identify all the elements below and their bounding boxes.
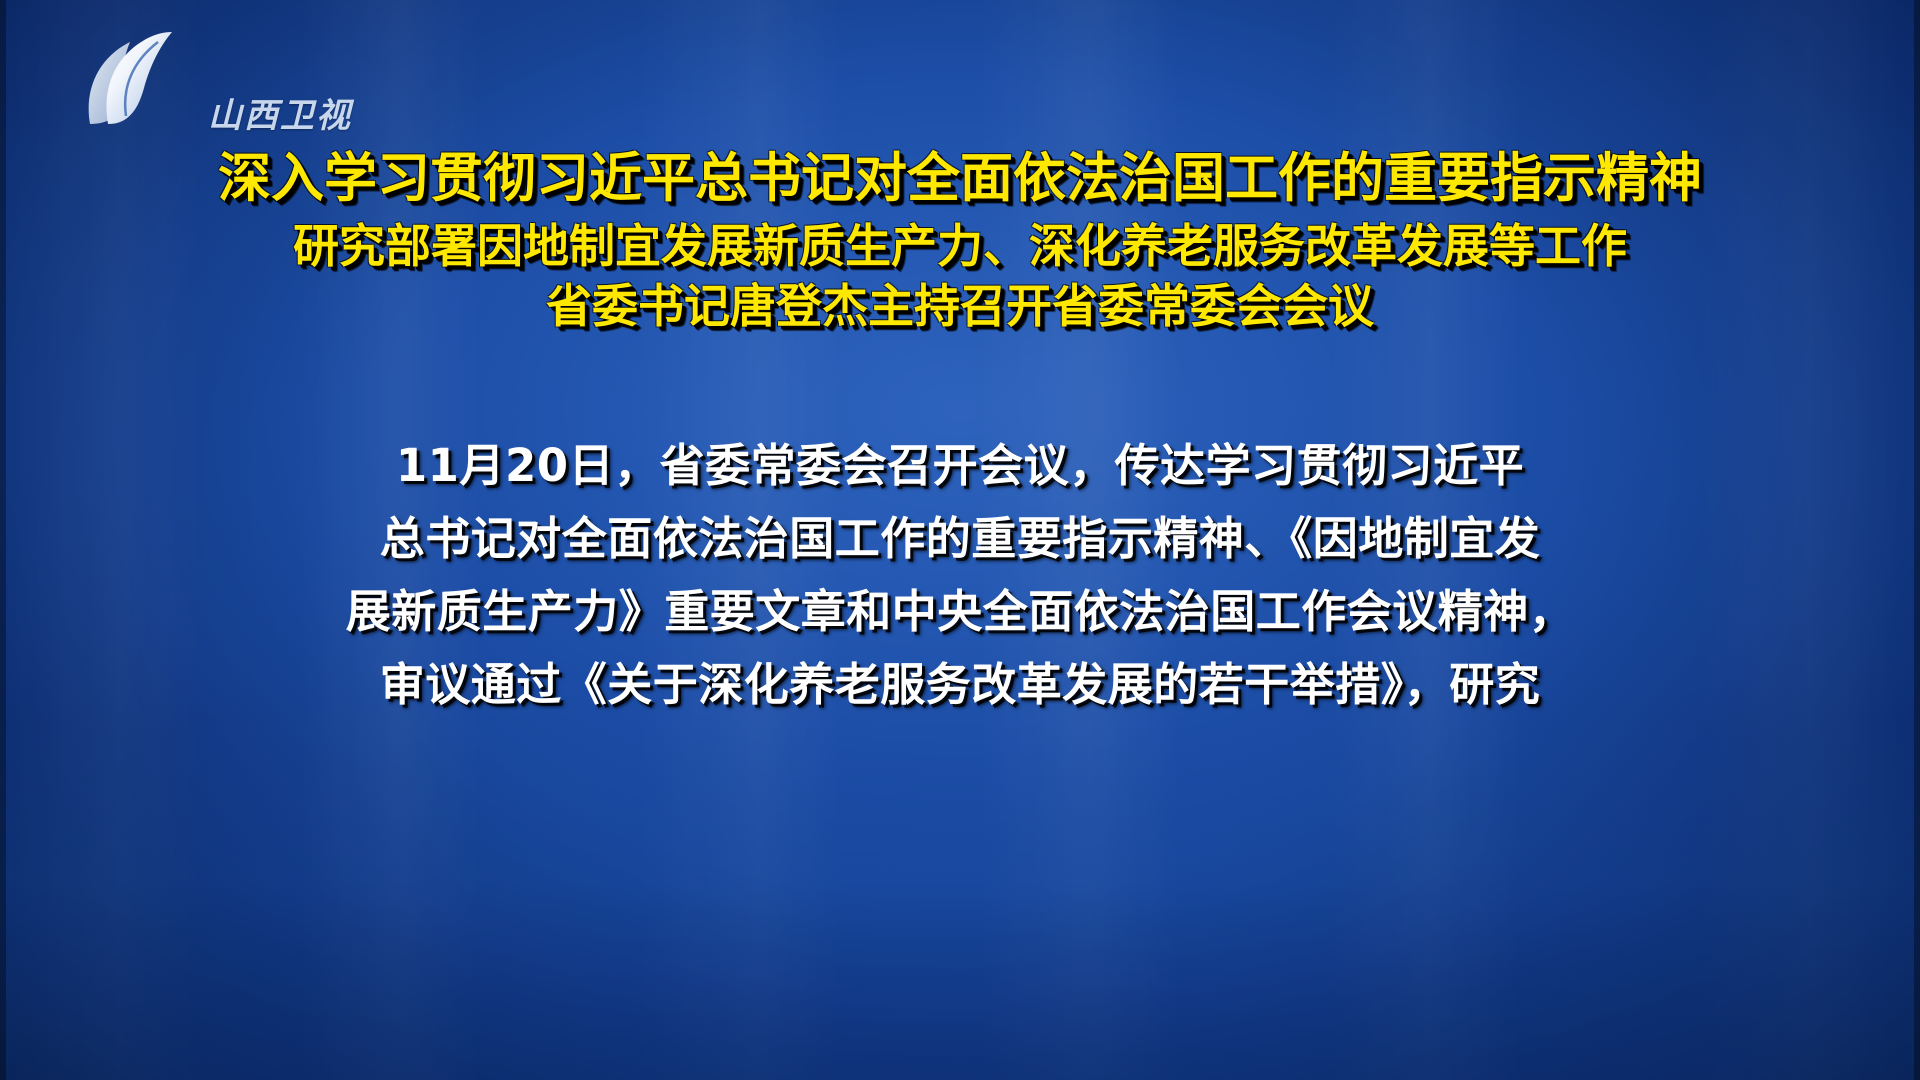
broadcast-screen: 山西卫视 深入学习贯彻习近平总书记对全面依法治国工作的重要指示精神 研究部署因地… [0,0,1920,1080]
body-line-4: 审议通过《关于深化养老服务改革发展的若干举措》，研究 [0,649,1920,722]
right-edge-bar [1914,0,1920,1080]
headline-line-1: 深入学习贯彻习近平总书记对全面依法治国工作的重要指示精神 [0,148,1920,211]
headline-line-2: 研究部署因地制宜发展新质生产力、深化养老服务改革发展等工作 [0,219,1920,273]
headline-block: 深入学习贯彻习近平总书记对全面依法治国工作的重要指示精神 研究部署因地制宜发展新… [0,148,1920,333]
left-edge-bar [0,0,6,1080]
body-line-3: 展新质生产力》重要文章和中央全面依法治国工作会议精神， [0,576,1920,649]
body-line-1: 11月20日，省委常委会召开会议，传达学习贯彻习近平 [0,430,1920,503]
channel-logo: 山西卫视 [74,32,324,128]
headline-line-3: 省委书记唐登杰主持召开省委常委会会议 [0,279,1920,333]
body-paragraph: 11月20日，省委常委会召开会议，传达学习贯彻习近平 总书记对全面依法治国工作的… [0,430,1920,722]
body-line-2: 总书记对全面依法治国工作的重要指示精神、《因地制宜发 [0,503,1920,576]
channel-wordmark: 山西卫视 [208,88,352,137]
